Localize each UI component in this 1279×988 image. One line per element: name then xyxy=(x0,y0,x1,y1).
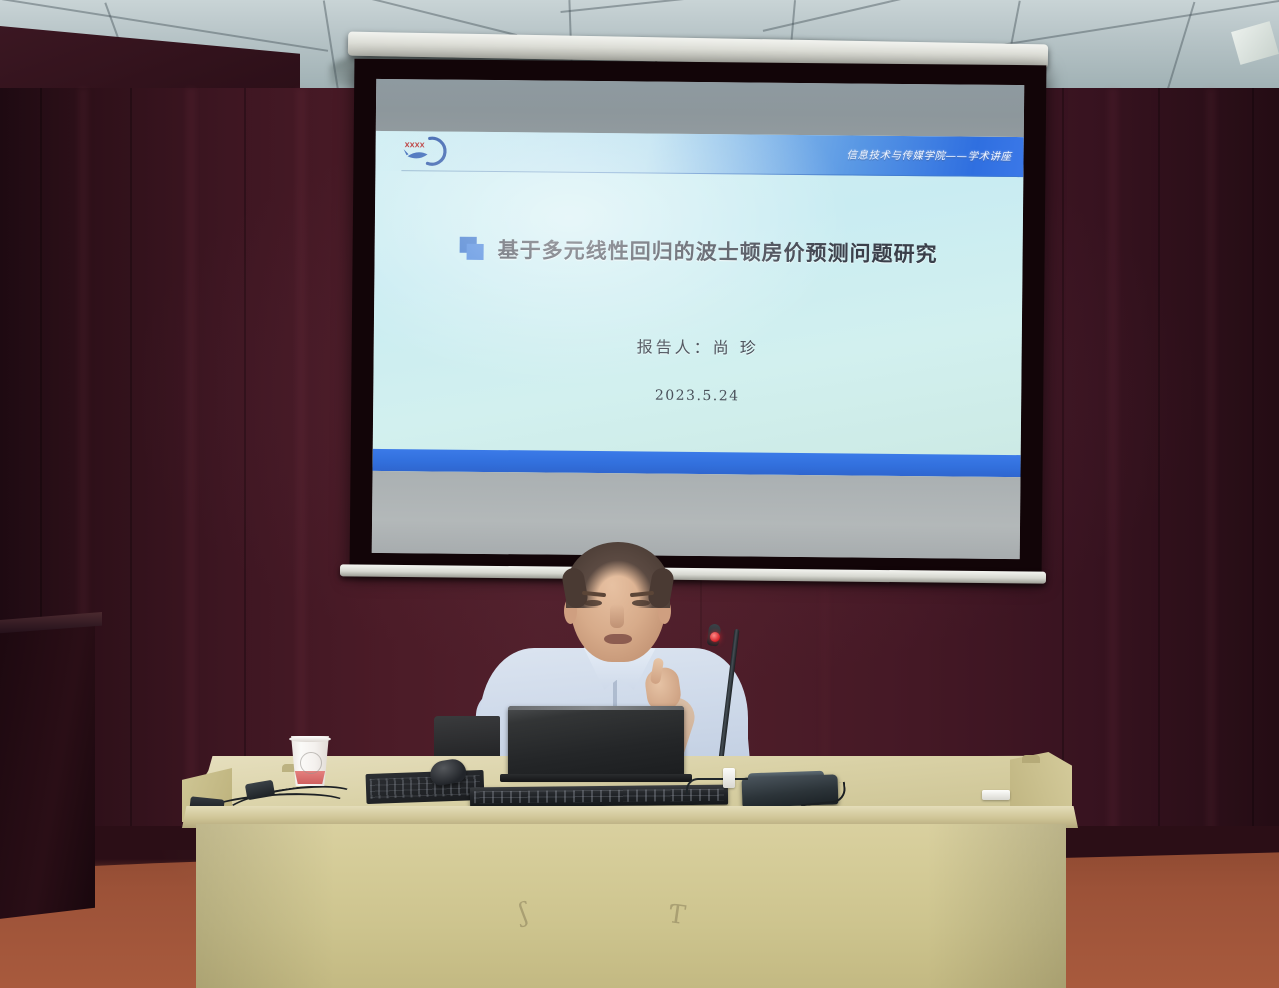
paper-cup[interactable] xyxy=(289,736,331,786)
university-emblem-logo: XXXX xyxy=(399,134,455,169)
ceiling-light-fixture xyxy=(1231,21,1279,65)
ceiling-grid-line xyxy=(560,0,769,13)
eye-right xyxy=(632,600,650,606)
microphone-status-led xyxy=(710,632,720,642)
paper-cup-rim xyxy=(289,736,331,742)
hair xyxy=(566,542,670,608)
laptop[interactable] xyxy=(508,706,684,778)
mouse-pad xyxy=(366,770,485,804)
white-small-item[interactable] xyxy=(723,768,735,788)
paper-cup-logo xyxy=(300,752,322,774)
projector-glow xyxy=(373,131,1024,477)
ceiling-grid-line xyxy=(763,0,988,32)
laptop-hinge xyxy=(500,774,692,782)
slide-title: 基于多元线性回归的波士顿房价预测问题研究 xyxy=(498,234,938,268)
slide-title-row: 基于多元线性回归的波士顿房价预测问题研究 xyxy=(375,233,1023,269)
slide-date: 2023.5.24 xyxy=(373,385,1021,407)
nose xyxy=(610,604,624,628)
podium-notch-right xyxy=(1022,755,1040,763)
side-lectern xyxy=(0,615,95,920)
eye-left xyxy=(584,600,602,606)
microphone-cable xyxy=(686,778,748,794)
projection-screen: XXXX 信息技术与传媒学院——学术讲座 基于多元线性回归的波士顿房价预测问题研… xyxy=(372,79,1025,559)
mouth xyxy=(604,634,632,644)
podium-front-shading xyxy=(196,824,1066,988)
lecture-hall-scene: XXXX 信息技术与传媒学院——学术讲座 基于多元线性回归的波士顿房价预测问题研… xyxy=(0,0,1279,988)
screen-frame: XXXX 信息技术与传媒学院——学术讲座 基于多元线性回归的波士顿房价预测问题研… xyxy=(350,59,1047,578)
dark-object-behind-laptop xyxy=(434,716,500,760)
white-small-item[interactable] xyxy=(982,790,1010,800)
svg-text:XXXX: XXXX xyxy=(405,141,425,149)
slide-presenter-line: 报告人：尚 珍 xyxy=(374,331,1022,361)
projected-slide: XXXX 信息技术与传媒学院——学术讲座 基于多元线性回归的波士顿房价预测问题研… xyxy=(373,131,1024,477)
title-bullet-squares-icon xyxy=(460,237,486,261)
unused-screen-area-top xyxy=(376,79,1024,137)
laptop-screen-bezel xyxy=(508,706,684,710)
slide-header-department-text: 信息技术与传媒学院——学术讲座 xyxy=(847,147,1012,164)
ceiling-corner-shadow-left xyxy=(0,26,300,92)
